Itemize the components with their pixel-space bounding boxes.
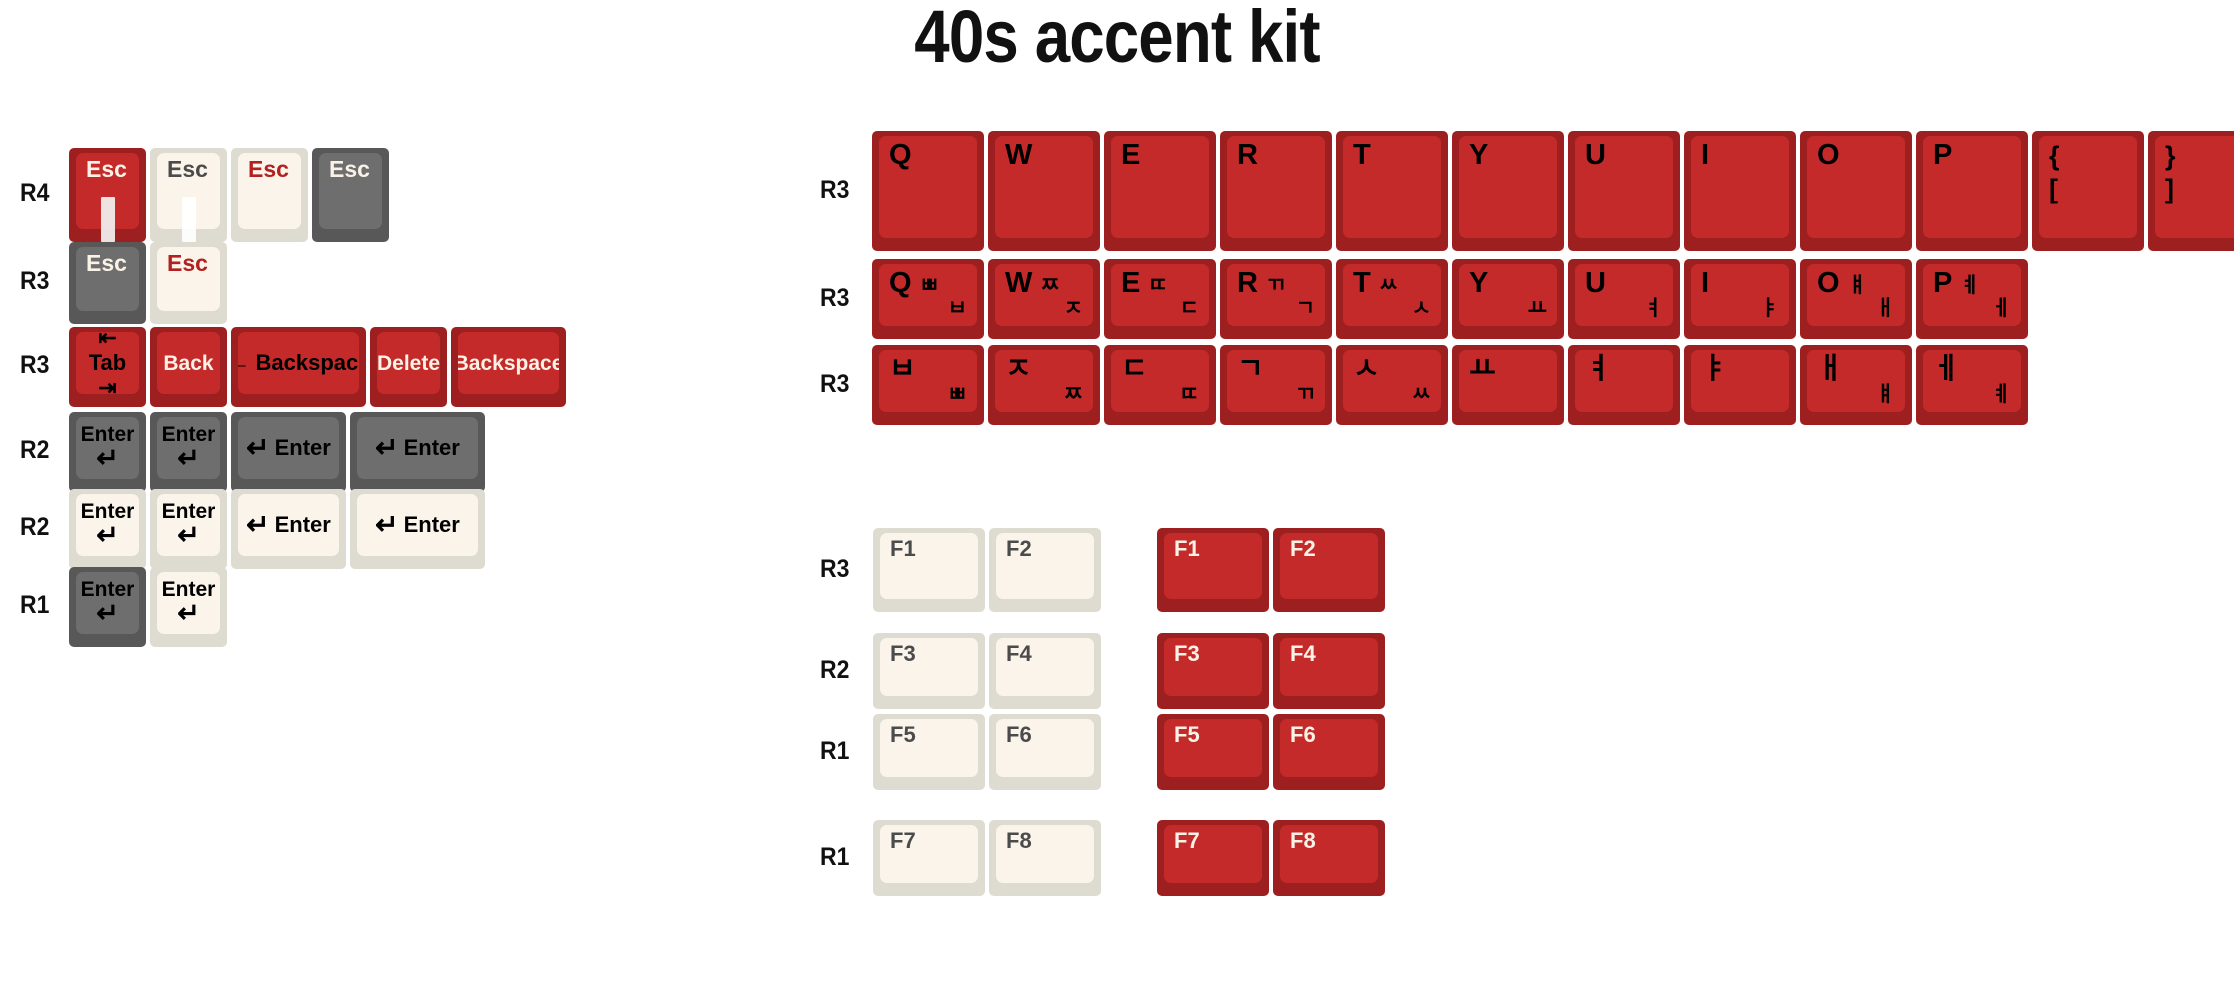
keycap-legend-text: Back xyxy=(163,353,213,374)
keycap-top-surface: ㄱㄲ xyxy=(1227,350,1325,412)
keycap-u[interactable]: U xyxy=(1568,131,1680,251)
enter-legend: Enter↵ xyxy=(76,572,139,634)
keycap-legend: Esc xyxy=(238,153,301,229)
primary-legend: ㅈ xyxy=(1005,355,1032,384)
keycap-enter[interactable]: Enter↵ xyxy=(69,412,146,492)
keycap-legend-text: Esc xyxy=(86,252,127,275)
keycap-top-surface: Q xyxy=(879,136,977,238)
alpha-legend: U xyxy=(1575,136,1673,238)
primary-legend-row: U xyxy=(1585,141,1665,170)
alpha-legend: W xyxy=(995,136,1093,238)
tab-legend: ⇤Tab⇥ xyxy=(76,332,139,394)
fkey-legend: F5 xyxy=(1164,719,1262,777)
fkey-legend: F4 xyxy=(996,638,1094,696)
keycap-top-surface: F4 xyxy=(1280,638,1378,696)
keycap-ㄷ[interactable]: ㄷㄸ xyxy=(1104,345,1216,425)
keycap-top-surface: Iㅑ xyxy=(1691,264,1789,326)
fkey-label: F1 xyxy=(1174,538,1200,560)
keycap-esc[interactable]: Esc xyxy=(231,148,308,242)
alpha-legend: ㅔㅖ xyxy=(1923,350,2021,412)
hangul-base-legend: ㄸ xyxy=(1180,384,1199,405)
alpha-legend: Qㅃㅂ xyxy=(879,264,977,326)
alpha-legend: ㄷㄸ xyxy=(1111,350,1209,412)
alpha-legend: Y xyxy=(1459,136,1557,238)
keycap-top-surface: F5 xyxy=(880,719,978,777)
keycap-top-surface: F2 xyxy=(996,533,1094,599)
keycap-i[interactable]: I xyxy=(1684,131,1796,251)
enter-legend: Enter↵ xyxy=(76,417,139,479)
keycap-esc[interactable]: Esc xyxy=(69,242,146,324)
keycap-top-surface: }] xyxy=(2155,136,2234,238)
keycap-top-surface: F5 xyxy=(1164,719,1262,777)
backspace-label: Backspace xyxy=(256,350,359,376)
keycap-top-surface: Tㅆㅅ xyxy=(1343,264,1441,326)
keycap-top-surface: Eㄸㄷ xyxy=(1111,264,1209,326)
keycap-f8-cream[interactable]: F8 xyxy=(989,820,1101,896)
primary-legend: T xyxy=(1353,269,1371,298)
keycap-ㄱ[interactable]: ㄱㄲ xyxy=(1220,345,1332,425)
keycap-legend-text: Backspace xyxy=(458,353,559,374)
keycap-top-surface: ㅛ xyxy=(1459,350,1557,412)
fkey-legend: F3 xyxy=(1164,638,1262,696)
keycap-top-surface: W xyxy=(995,136,1093,238)
fkey-legend: F5 xyxy=(880,719,978,777)
keycap-top-surface: Esc xyxy=(319,153,382,229)
keycap-ㅂ[interactable]: ㅂㅃ xyxy=(872,345,984,425)
keycap-top-surface: F8 xyxy=(1280,825,1378,883)
fkey-label: F8 xyxy=(1290,830,1316,852)
keycap-t[interactable]: T xyxy=(1336,131,1448,251)
keycap-top-surface: F4 xyxy=(996,638,1094,696)
alpha-legend: Uㅕ xyxy=(1575,264,1673,326)
row-profile-label: R2 xyxy=(20,436,49,465)
primary-legend-row: R xyxy=(1237,141,1317,170)
enter-legend: ↵Enter xyxy=(238,494,339,556)
keycap-ㅑ[interactable]: ㅑ xyxy=(1684,345,1796,425)
hangul-shifted-legend: ㅒ xyxy=(1848,275,1867,296)
primary-legend-row: ㅈ xyxy=(1005,355,1085,384)
fkey-label: F7 xyxy=(890,830,916,852)
keycap-top-surface: Enter↵ xyxy=(157,494,220,556)
keycap-r[interactable]: R xyxy=(1220,131,1332,251)
primary-legend: E xyxy=(1121,141,1140,170)
keycap-f6-red[interactable]: F6 xyxy=(1273,714,1385,790)
keycap-ㅛ[interactable]: ㅛ xyxy=(1452,345,1564,425)
keycap-top-surface: Pㅖㅔ xyxy=(1923,264,2021,326)
primary-legend: ㅂ xyxy=(889,355,916,384)
hangul-shifted-legend: ㅆ xyxy=(1379,275,1398,296)
enter-label: Enter xyxy=(275,512,331,538)
alpha-legend: Yㅛ xyxy=(1459,264,1557,326)
keycap-y[interactable]: Y xyxy=(1452,131,1564,251)
alpha-legend: O xyxy=(1807,136,1905,238)
hangul-base-legend: ㄷ xyxy=(1180,298,1199,319)
primary-legend-row: ㅔ xyxy=(1933,355,2013,384)
alpha-legend: E xyxy=(1111,136,1209,238)
keycap-f4-cream[interactable]: F4 xyxy=(989,633,1101,709)
bracket-legend: {[ xyxy=(2039,136,2137,238)
primary-legend: ㅕ xyxy=(1585,355,1612,384)
primary-legend: P xyxy=(1933,141,1952,170)
keycap-f1-cream[interactable]: F1 xyxy=(873,528,985,612)
keycap-top-surface: Enter↵ xyxy=(157,572,220,634)
alpha-legend: ㅕ xyxy=(1575,350,1673,412)
alpha-legend: Tㅆㅅ xyxy=(1343,264,1441,326)
keycap-top-surface: F3 xyxy=(1164,638,1262,696)
keycap-esc[interactable]: Esc xyxy=(150,242,227,324)
tab-forward-arrow-icon: ⇥ xyxy=(98,376,116,394)
left-arrow-icon: ← xyxy=(238,349,251,377)
keycap-ㅈ[interactable]: ㅈㅉ xyxy=(988,345,1100,425)
row-profile-label: R2 xyxy=(20,513,49,542)
enter-return-arrow-icon: ↵ xyxy=(96,599,119,627)
keycap-f3-red[interactable]: F3 xyxy=(1157,633,1269,709)
alpha-legend: Oㅒㅐ xyxy=(1807,264,1905,326)
row-profile-label: R3 xyxy=(20,351,49,380)
primary-legend: W xyxy=(1005,141,1032,170)
hangul-shifted-legend: ㅉ xyxy=(1040,275,1059,296)
enter-return-arrow-icon: ↵ xyxy=(246,511,269,539)
primary-legend-row: ㅂ xyxy=(889,355,969,384)
fkey-legend: F6 xyxy=(1280,719,1378,777)
keycap-top-surface: Uㅕ xyxy=(1575,264,1673,326)
alpha-legend: Pㅖㅔ xyxy=(1923,264,2021,326)
primary-legend: Q xyxy=(889,141,912,170)
keycap-esc[interactable]: Esc xyxy=(69,148,146,242)
primary-legend-row: ㄱ xyxy=(1237,355,1317,384)
row-profile-label: R3 xyxy=(820,555,849,584)
primary-legend-row: W xyxy=(1005,141,1085,170)
primary-legend: W xyxy=(1005,269,1032,298)
keycap-top-surface: F1 xyxy=(1164,533,1262,599)
primary-legend-row: I xyxy=(1701,141,1781,170)
keycap-f7-red[interactable]: F7 xyxy=(1157,820,1269,896)
keycap-o[interactable]: O xyxy=(1800,131,1912,251)
keycap-top-surface: Back xyxy=(157,332,220,394)
fkey-label: F5 xyxy=(890,724,916,746)
keycap-i[interactable]: Iㅑ xyxy=(1684,259,1796,339)
alpha-legend: Iㅑ xyxy=(1691,264,1789,326)
primary-legend-row: Q xyxy=(889,141,969,170)
keycap-e[interactable]: Eㄸㄷ xyxy=(1104,259,1216,339)
keycap-legend: Esc xyxy=(157,247,220,311)
keycap-legend-text: Esc xyxy=(329,158,370,181)
primary-legend: Y xyxy=(1469,141,1488,170)
keycap-legend: Back xyxy=(157,332,220,394)
primary-legend-row: Tㅆ xyxy=(1353,269,1433,298)
keycap-top-surface: Delete xyxy=(377,332,440,394)
keycap-top-surface: Esc xyxy=(157,247,220,311)
keycap-top-surface: F8 xyxy=(996,825,1094,883)
keycap-q[interactable]: Q xyxy=(872,131,984,251)
keycap-legend-text: Esc xyxy=(248,158,289,181)
keycap-top-surface: Oㅒㅐ xyxy=(1807,264,1905,326)
fkey-legend: F7 xyxy=(880,825,978,883)
fkey-label: F7 xyxy=(1174,830,1200,852)
hangul-base-legend: ㄲ xyxy=(1296,384,1315,405)
hangul-base-legend: ㅆ xyxy=(1412,384,1431,405)
primary-legend: P xyxy=(1933,269,1952,298)
enter-legend: ↵Enter xyxy=(357,494,478,556)
keycap-top-surface: T xyxy=(1343,136,1441,238)
keycap-f8-red[interactable]: F8 xyxy=(1273,820,1385,896)
keycap-top-surface: F6 xyxy=(1280,719,1378,777)
alpha-legend: P xyxy=(1923,136,2021,238)
keycap-top-surface: ↵Enter xyxy=(238,417,339,479)
enter-label: Enter xyxy=(404,512,460,538)
keycap-ㅐ[interactable]: ㅐㅒ xyxy=(1800,345,1912,425)
alpha-legend: T xyxy=(1343,136,1441,238)
primary-legend-row: U xyxy=(1585,269,1665,298)
keycap-y[interactable]: Yㅛ xyxy=(1452,259,1564,339)
keycap-back[interactable]: Back xyxy=(150,327,227,407)
bracket-legend: }] xyxy=(2155,136,2234,238)
primary-legend: I xyxy=(1701,141,1709,170)
keycap-u[interactable]: Uㅕ xyxy=(1568,259,1680,339)
primary-legend-row: Pㅖ xyxy=(1933,269,2013,298)
enter-return-arrow-icon: ↵ xyxy=(96,521,119,549)
keycap-top-surface: ㅑ xyxy=(1691,350,1789,412)
keycap-enter[interactable]: Enter↵ xyxy=(150,567,227,647)
alpha-legend: Q xyxy=(879,136,977,238)
fkey-legend: F6 xyxy=(996,719,1094,777)
keycap-top-surface: Enter↵ xyxy=(76,572,139,634)
fkey-label: F6 xyxy=(1290,724,1316,746)
primary-legend-row: Oㅒ xyxy=(1817,269,1897,298)
tab-label: Tab xyxy=(89,351,126,375)
keycap-f2-cream[interactable]: F2 xyxy=(989,528,1101,612)
keycap-top-surface: Yㅛ xyxy=(1459,264,1557,326)
fkey-label: F4 xyxy=(1006,643,1032,665)
primary-legend-row: T xyxy=(1353,141,1433,170)
fkey-label: F2 xyxy=(1290,538,1316,560)
primary-legend-row: ㄷ xyxy=(1121,355,1201,384)
keycap-top-surface: ㅕ xyxy=(1575,350,1673,412)
fkey-label: F4 xyxy=(1290,643,1316,665)
alpha-legend: Rㄲㄱ xyxy=(1227,264,1325,326)
keycap-top-surface: F3 xyxy=(880,638,978,696)
keycap-enter[interactable]: Enter↵ xyxy=(69,567,146,647)
keycap-delete[interactable]: Delete xyxy=(370,327,447,407)
keycap-f3-cream[interactable]: F3 xyxy=(873,633,985,709)
keycap-q[interactable]: Qㅃㅂ xyxy=(872,259,984,339)
keycap-enter[interactable]: Enter↵ xyxy=(150,489,227,569)
enter-legend: Enter↵ xyxy=(157,417,220,479)
primary-legend-row: ㅛ xyxy=(1469,355,1549,384)
fkey-legend: F7 xyxy=(1164,825,1262,883)
primary-legend-row: ㅑ xyxy=(1701,355,1781,384)
alpha-legend: ㄱㄲ xyxy=(1227,350,1325,412)
keycap-top-surface: ↵Enter xyxy=(238,494,339,556)
enter-legend: ↵Enter xyxy=(357,417,478,479)
keycap-f5-cream[interactable]: F5 xyxy=(873,714,985,790)
alpha-legend: ㅐㅒ xyxy=(1807,350,1905,412)
fkey-legend: F4 xyxy=(1280,638,1378,696)
hangul-base-legend: ㅛ xyxy=(1528,298,1547,319)
keycap-}[interactable]: }] xyxy=(2148,131,2234,251)
hangul-base-legend: ㅂ xyxy=(948,298,967,319)
primary-legend: O xyxy=(1817,269,1840,298)
alpha-legend: ㅑ xyxy=(1691,350,1789,412)
fkey-legend: F3 xyxy=(880,638,978,696)
primary-legend-row: ㅐ xyxy=(1817,355,1897,384)
keycap-top-surface: {[ xyxy=(2039,136,2137,238)
keycap-esc[interactable]: Esc xyxy=(312,148,389,242)
keycap-legend-text: Delete xyxy=(377,353,440,374)
enter-return-arrow-icon: ↵ xyxy=(177,599,200,627)
primary-legend: ㅛ xyxy=(1469,355,1496,384)
fkey-label: F3 xyxy=(890,643,916,665)
keycap-top-surface: R xyxy=(1227,136,1325,238)
primary-legend: U xyxy=(1585,269,1606,298)
keycap-enter[interactable]: ↵Enter xyxy=(231,489,346,569)
keycap-p[interactable]: P xyxy=(1916,131,2028,251)
keycap-top-surface: ⇤Tab⇥ xyxy=(76,332,139,394)
keycap-enter[interactable]: ↵Enter xyxy=(350,412,485,492)
keycap-e[interactable]: E xyxy=(1104,131,1216,251)
keycap-top-surface: F1 xyxy=(880,533,978,599)
keycap-f4-red[interactable]: F4 xyxy=(1273,633,1385,709)
primary-legend: ㅐ xyxy=(1817,355,1844,384)
enter-return-arrow-icon: ↵ xyxy=(375,511,398,539)
hangul-base-legend: ㅐ xyxy=(1876,298,1895,319)
keycap-r[interactable]: Rㄲㄱ xyxy=(1220,259,1332,339)
keycap-enter[interactable]: Enter↵ xyxy=(69,489,146,569)
primary-legend-row: ㅕ xyxy=(1585,355,1665,384)
keycap-top-surface: ㅂㅃ xyxy=(879,350,977,412)
keycap-{[interactable]: {[ xyxy=(2032,131,2144,251)
fkey-legend: F2 xyxy=(1280,533,1378,599)
enter-legend: Enter↵ xyxy=(157,494,220,556)
primary-legend-row: I xyxy=(1701,269,1781,298)
hangul-base-legend: ㅈ xyxy=(1064,298,1083,319)
primary-legend: ㅅ xyxy=(1353,355,1380,384)
keycap-top-surface: Enter↵ xyxy=(157,417,220,479)
row-profile-label: R3 xyxy=(820,284,849,313)
row-profile-label: R1 xyxy=(20,591,49,620)
keycap-t[interactable]: Tㅆㅅ xyxy=(1336,259,1448,339)
keycap-top-surface: Y xyxy=(1459,136,1557,238)
keycap-top-surface: ㅅㅆ xyxy=(1343,350,1441,412)
fkey-label: F3 xyxy=(1174,643,1200,665)
hangul-shifted-legend: ㅃ xyxy=(920,275,939,296)
enter-legend: Enter↵ xyxy=(76,494,139,556)
primary-legend-row: Y xyxy=(1469,269,1549,298)
primary-legend-row: Wㅉ xyxy=(1005,269,1085,298)
keycap-w[interactable]: W xyxy=(988,131,1100,251)
fkey-label: F1 xyxy=(890,538,916,560)
fkey-label: F8 xyxy=(1006,830,1032,852)
keycap-top-surface: F6 xyxy=(996,719,1094,777)
keycap-top-surface: Enter↵ xyxy=(76,417,139,479)
fkey-legend: F8 xyxy=(996,825,1094,883)
alpha-legend: Eㄸㄷ xyxy=(1111,264,1209,326)
row-profile-label: R3 xyxy=(20,267,49,296)
keycap-enter[interactable]: Enter↵ xyxy=(150,412,227,492)
keycap-f7-cream[interactable]: F7 xyxy=(873,820,985,896)
keycap-top-surface: ㅈㅉ xyxy=(995,350,1093,412)
keycap-top-surface: F2 xyxy=(1280,533,1378,599)
keycap-legend-text: Esc xyxy=(86,158,127,181)
keycap-f6-cream[interactable]: F6 xyxy=(989,714,1101,790)
keycap-enter[interactable]: ↵Enter xyxy=(350,489,485,569)
primary-legend-row: Qㅃ xyxy=(889,269,969,298)
row-profile-label: R3 xyxy=(820,176,849,205)
bracket-base-glyph: ] xyxy=(2165,173,2234,206)
fkey-label: F6 xyxy=(1006,724,1032,746)
enter-label: Enter xyxy=(404,435,460,461)
hangul-base-legend: ㅅ xyxy=(1412,298,1431,319)
primary-legend: T xyxy=(1353,141,1371,170)
alpha-legend: ㅈㅉ xyxy=(995,350,1093,412)
keycap-top-surface: F7 xyxy=(880,825,978,883)
primary-legend-row: Eㄸ xyxy=(1121,269,1201,298)
keycap-legend: Delete xyxy=(377,332,440,394)
keycap-p[interactable]: Pㅖㅔ xyxy=(1916,259,2028,339)
keycap-stem-indicator xyxy=(101,197,115,242)
alpha-legend: ㅛ xyxy=(1459,350,1557,412)
keycap-f2-red[interactable]: F2 xyxy=(1273,528,1385,612)
enter-legend: Enter↵ xyxy=(157,572,220,634)
tab-back-arrow-icon: ⇤ xyxy=(98,332,116,350)
keycap-top-surface: E xyxy=(1111,136,1209,238)
keycap-top-surface: I xyxy=(1691,136,1789,238)
keycap-f1-red[interactable]: F1 xyxy=(1157,528,1269,612)
keycap-top-surface: O xyxy=(1807,136,1905,238)
alpha-legend: I xyxy=(1691,136,1789,238)
keycap-top-surface: Qㅃㅂ xyxy=(879,264,977,326)
alpha-legend: R xyxy=(1227,136,1325,238)
keycap-top-surface: ㅔㅖ xyxy=(1923,350,2021,412)
keycap-tab[interactable]: ⇤Tab⇥ xyxy=(69,327,146,407)
keycap-top-surface: ↵Enter xyxy=(357,494,478,556)
primary-legend: O xyxy=(1817,141,1840,170)
keycap-esc[interactable]: Esc xyxy=(150,148,227,242)
alpha-legend: ㅂㅃ xyxy=(879,350,977,412)
hangul-base-legend: ㅉ xyxy=(1064,384,1083,405)
keycap-top-surface: Wㅉㅈ xyxy=(995,264,1093,326)
fkey-label: F2 xyxy=(1006,538,1032,560)
keycap-backspace[interactable]: Backspace xyxy=(451,327,566,407)
keycap-f5-red[interactable]: F5 xyxy=(1157,714,1269,790)
primary-legend-row: Y xyxy=(1469,141,1549,170)
keycap-ㅔ[interactable]: ㅔㅖ xyxy=(1916,345,2028,425)
primary-legend: ㅑ xyxy=(1701,355,1728,384)
hangul-base-legend: ㅔ xyxy=(1992,298,2011,319)
keycap-backspace[interactable]: ←Backspace xyxy=(231,327,366,407)
keycap-ㅅ[interactable]: ㅅㅆ xyxy=(1336,345,1448,425)
hangul-base-legend: ㅃ xyxy=(948,384,967,405)
keycap-top-surface: ㅐㅒ xyxy=(1807,350,1905,412)
primary-legend-row: P xyxy=(1933,141,2013,170)
hangul-base-legend: ㅒ xyxy=(1876,384,1895,405)
primary-legend-row: O xyxy=(1817,141,1897,170)
enter-return-arrow-icon: ↵ xyxy=(177,521,200,549)
keycap-enter[interactable]: ↵Enter xyxy=(231,412,346,492)
keycap-ㅕ[interactable]: ㅕ xyxy=(1568,345,1680,425)
keycap-o[interactable]: Oㅒㅐ xyxy=(1800,259,1912,339)
bracket-shifted-glyph: } xyxy=(2165,140,2234,173)
page-title: 40s accent kit xyxy=(156,0,2077,79)
primary-legend: R xyxy=(1237,269,1258,298)
keycap-legend: Backspace xyxy=(458,332,559,394)
keycap-w[interactable]: Wㅉㅈ xyxy=(988,259,1100,339)
enter-return-arrow-icon: ↵ xyxy=(96,444,119,472)
primary-legend-row: E xyxy=(1121,141,1201,170)
keycap-top-surface: F7 xyxy=(1164,825,1262,883)
row-profile-label: R2 xyxy=(820,656,849,685)
fkey-legend: F8 xyxy=(1280,825,1378,883)
